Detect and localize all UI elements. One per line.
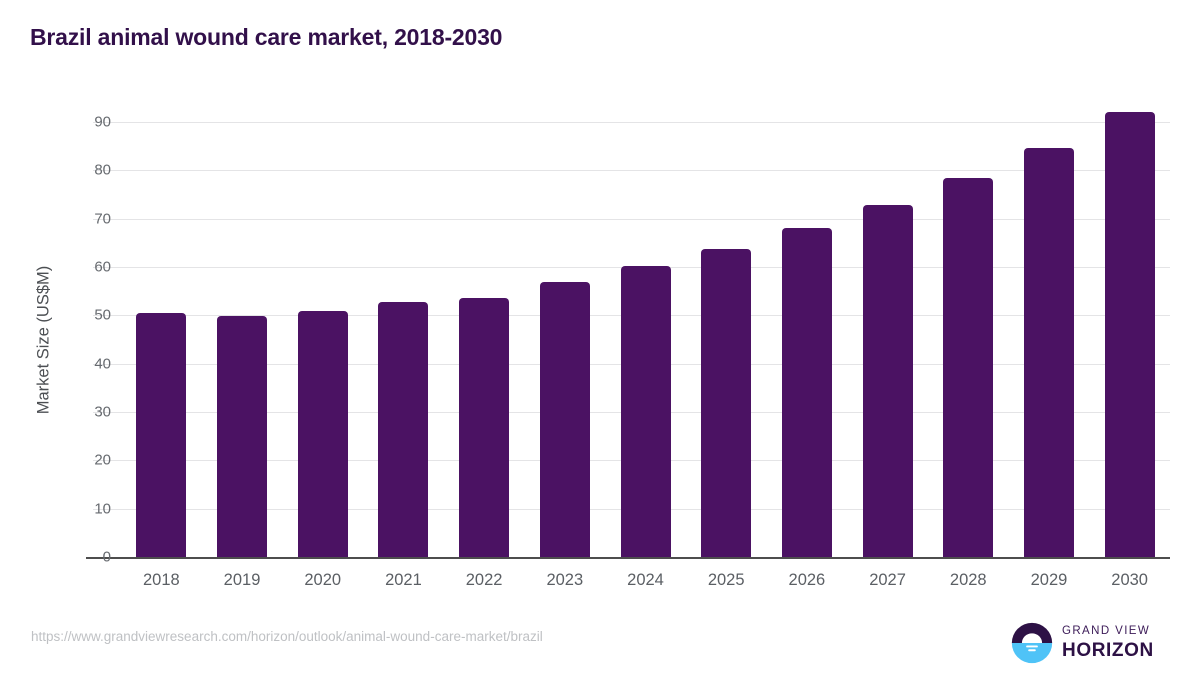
plot-area: 0102030405060708090201820192020202120222…	[121, 122, 1170, 557]
brand-logo[interactable]: GRAND VIEW HORIZON	[1011, 621, 1154, 665]
y-axis-tick-label: 80	[51, 162, 111, 179]
gridline	[93, 122, 1170, 123]
x-axis-tick-label: 2018	[116, 571, 206, 590]
bar-2023[interactable]	[540, 282, 590, 557]
x-axis-tick-label: 2027	[843, 571, 933, 590]
chart-card: Brazil animal wound care market, 2018-20…	[0, 0, 1200, 675]
source-url[interactable]: https://www.grandviewresearch.com/horizo…	[31, 629, 543, 644]
bar-2028[interactable]	[943, 178, 993, 557]
y-axis-tick-label: 10	[51, 500, 111, 517]
x-axis-tick-label: 2029	[1004, 571, 1094, 590]
bar-2026[interactable]	[782, 228, 832, 557]
logo-wordmark: GRAND VIEW HORIZON	[1062, 626, 1154, 660]
bar-2021[interactable]	[378, 302, 428, 557]
bar-2029[interactable]	[1024, 148, 1074, 557]
logo-line2: HORIZON	[1062, 641, 1154, 660]
y-axis-tick-label: 40	[51, 355, 111, 372]
gridline	[93, 219, 1170, 220]
y-axis-title-label: Market Size (US$M)	[35, 265, 54, 414]
y-axis-tick-label: 30	[51, 404, 111, 421]
y-axis-tick-label: 0	[51, 549, 111, 566]
x-axis-line	[86, 557, 1170, 559]
y-axis-tick-label: 20	[51, 452, 111, 469]
x-axis-tick-label: 2030	[1085, 571, 1175, 590]
y-axis-title: Market Size (US$M)	[32, 122, 56, 557]
y-axis-tick-label: 60	[51, 259, 111, 276]
gridline	[93, 170, 1170, 171]
grand-view-horizon-logo-icon	[1011, 622, 1053, 664]
bar-2030[interactable]	[1105, 112, 1155, 557]
bar-2027[interactable]	[863, 205, 913, 557]
x-axis-tick-label: 2026	[762, 571, 852, 590]
y-axis-tick-label: 70	[51, 210, 111, 227]
y-axis-tick-label: 50	[51, 307, 111, 324]
bar-2025[interactable]	[701, 249, 751, 557]
bar-2018[interactable]	[136, 313, 186, 557]
x-axis-tick-label: 2025	[681, 571, 771, 590]
x-axis-tick-label: 2019	[197, 571, 287, 590]
bar-2020[interactable]	[298, 311, 348, 557]
x-axis-tick-label: 2020	[278, 571, 368, 590]
bar-2022[interactable]	[459, 298, 509, 557]
x-axis-tick-label: 2023	[520, 571, 610, 590]
logo-line1: GRAND VIEW	[1062, 626, 1154, 638]
y-axis-tick-label: 90	[51, 114, 111, 131]
chart-plot-wrapper: Market Size (US$M) 010203040506070809020…	[0, 0, 1200, 675]
x-axis-tick-label: 2028	[923, 571, 1013, 590]
x-axis-tick-label: 2024	[601, 571, 691, 590]
bar-2024[interactable]	[621, 266, 671, 557]
bar-2019[interactable]	[217, 316, 267, 557]
x-axis-tick-label: 2022	[439, 571, 529, 590]
x-axis-tick-label: 2021	[358, 571, 448, 590]
